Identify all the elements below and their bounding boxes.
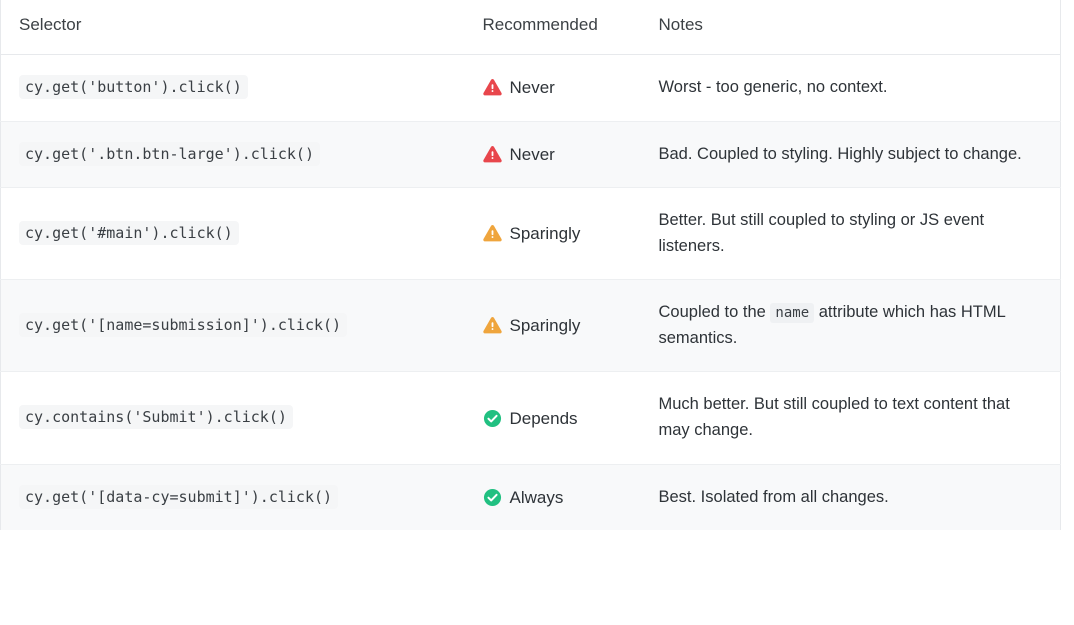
selector-code: cy.get('#main').click() [19, 221, 239, 245]
cell-recommended: Sparingly [471, 280, 649, 372]
selector-code: cy.contains('Submit').click() [19, 405, 293, 429]
notes-text: Coupled to the name attribute which has … [659, 300, 1043, 351]
cell-notes: Best. Isolated from all changes. [649, 464, 1061, 530]
table-header: Selector Recommended Notes [1, 0, 1061, 55]
cell-notes: Coupled to the name attribute which has … [649, 280, 1061, 372]
recommendation-badge: Never [483, 145, 637, 164]
notes-text: Much better. But still coupled to text c… [659, 392, 1043, 443]
cell-notes: Bad. Coupled to styling. Highly subject … [649, 121, 1061, 188]
cell-selector: cy.get('button').click() [1, 55, 471, 122]
warning-triangle-icon [483, 78, 502, 97]
recommendation-badge: Depends [483, 409, 637, 428]
notes-text: Worst - too generic, no context. [659, 75, 1043, 101]
notes-text-lead: Worst - too generic, no context. [659, 78, 888, 96]
notes-text-lead: Coupled to the [659, 303, 771, 321]
check-circle-icon [483, 488, 502, 507]
warning-triangle-icon [483, 316, 502, 335]
cell-selector: cy.get('[name=submission]').click() [1, 280, 471, 372]
recommendation-badge: Sparingly [483, 316, 637, 335]
cell-selector: cy.get('[data-cy=submit]').click() [1, 464, 471, 530]
notes-text-lead: Bad. Coupled to styling. Highly subject … [659, 145, 1022, 163]
recommendation-label: Sparingly [510, 317, 581, 334]
selector-code: cy.get('button').click() [19, 75, 248, 99]
recommendation-label: Never [510, 146, 555, 163]
column-header-recommended: Recommended [471, 0, 649, 55]
recommendation-label: Sparingly [510, 225, 581, 242]
recommendation-label: Never [510, 79, 555, 96]
cell-recommended: Sparingly [471, 188, 649, 280]
warning-triangle-icon [483, 224, 502, 243]
cell-notes: Better. But still coupled to styling or … [649, 188, 1061, 280]
selector-best-practices-table-wrapper: Selector Recommended Notes cy.get('butto… [0, 0, 1060, 530]
selector-code: cy.get('[name=submission]').click() [19, 313, 347, 337]
table-row: cy.get('.btn.btn-large').click()NeverBad… [1, 121, 1061, 188]
cell-selector: cy.get('#main').click() [1, 188, 471, 280]
table-row: cy.contains('Submit').click()DependsMuch… [1, 372, 1061, 464]
notes-text-lead: Better. But still coupled to styling or … [659, 211, 985, 255]
cell-recommended: Never [471, 121, 649, 188]
recommendation-badge: Sparingly [483, 224, 637, 243]
table-body: cy.get('button').click()NeverWorst - too… [1, 55, 1061, 531]
notes-text: Better. But still coupled to styling or … [659, 208, 1043, 259]
warning-triangle-icon [483, 145, 502, 164]
column-header-notes: Notes [649, 0, 1061, 55]
notes-text: Best. Isolated from all changes. [659, 485, 1043, 511]
table-row: cy.get('button').click()NeverWorst - too… [1, 55, 1061, 122]
cell-notes: Worst - too generic, no context. [649, 55, 1061, 122]
recommendation-label: Always [510, 489, 564, 506]
table-row: cy.get('[name=submission]').click()Spari… [1, 280, 1061, 372]
table-row: cy.get('[data-cy=submit]').click()Always… [1, 464, 1061, 530]
notes-text-lead: Much better. But still coupled to text c… [659, 395, 1010, 439]
cell-notes: Much better. But still coupled to text c… [649, 372, 1061, 464]
recommendation-badge: Always [483, 488, 637, 507]
notes-text: Bad. Coupled to styling. Highly subject … [659, 142, 1043, 168]
recommendation-label: Depends [510, 410, 578, 427]
notes-text-lead: Best. Isolated from all changes. [659, 488, 889, 506]
selector-code: cy.get('.btn.btn-large').click() [19, 142, 320, 166]
table-row: cy.get('#main').click()SparinglyBetter. … [1, 188, 1061, 280]
cell-recommended: Depends [471, 372, 649, 464]
notes-inline-code: name [770, 303, 814, 323]
column-header-selector: Selector [1, 0, 471, 55]
selector-code: cy.get('[data-cy=submit]').click() [19, 485, 338, 509]
check-circle-icon [483, 409, 502, 428]
table-header-row: Selector Recommended Notes [1, 0, 1061, 55]
cell-recommended: Always [471, 464, 649, 530]
recommendation-badge: Never [483, 78, 637, 97]
cell-selector: cy.contains('Submit').click() [1, 372, 471, 464]
selector-best-practices-table: Selector Recommended Notes cy.get('butto… [0, 0, 1061, 530]
cell-selector: cy.get('.btn.btn-large').click() [1, 121, 471, 188]
cell-recommended: Never [471, 55, 649, 122]
